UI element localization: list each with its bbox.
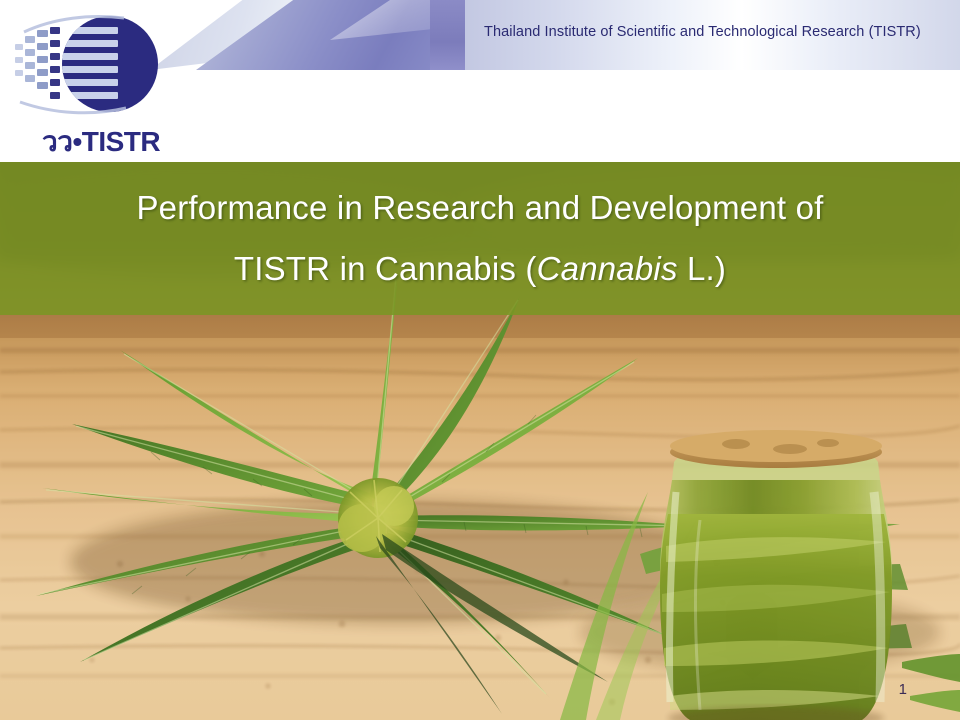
tistr-globe-logo-icon [14,12,166,120]
slide-header: Thailand Institute of Scientific and Tec… [0,0,960,162]
tistr-logo: วว•TISTR [14,12,184,157]
slide-title-band: Performance in Research and Development … [0,162,960,315]
slide-title-line-2-suffix: L.) [678,250,726,287]
presentation-slide: Thailand Institute of Scientific and Tec… [0,0,960,720]
slide-title-line-1: Performance in Research and Development … [136,191,823,226]
slide-title-line-2-prefix: TISTR in Cannabis ( [234,250,537,287]
globe-sphere-icon [14,12,166,120]
slide-title-scientific-name: Cannabis [537,250,678,287]
institute-name: Thailand Institute of Scientific and Tec… [484,24,954,40]
slide-title-line-2: TISTR in Cannabis (Cannabis L.) [234,252,726,287]
tistr-wordmark: วว•TISTR [42,120,160,162]
page-number: 1 [899,681,907,698]
header-decoration-purple-block [430,0,466,70]
